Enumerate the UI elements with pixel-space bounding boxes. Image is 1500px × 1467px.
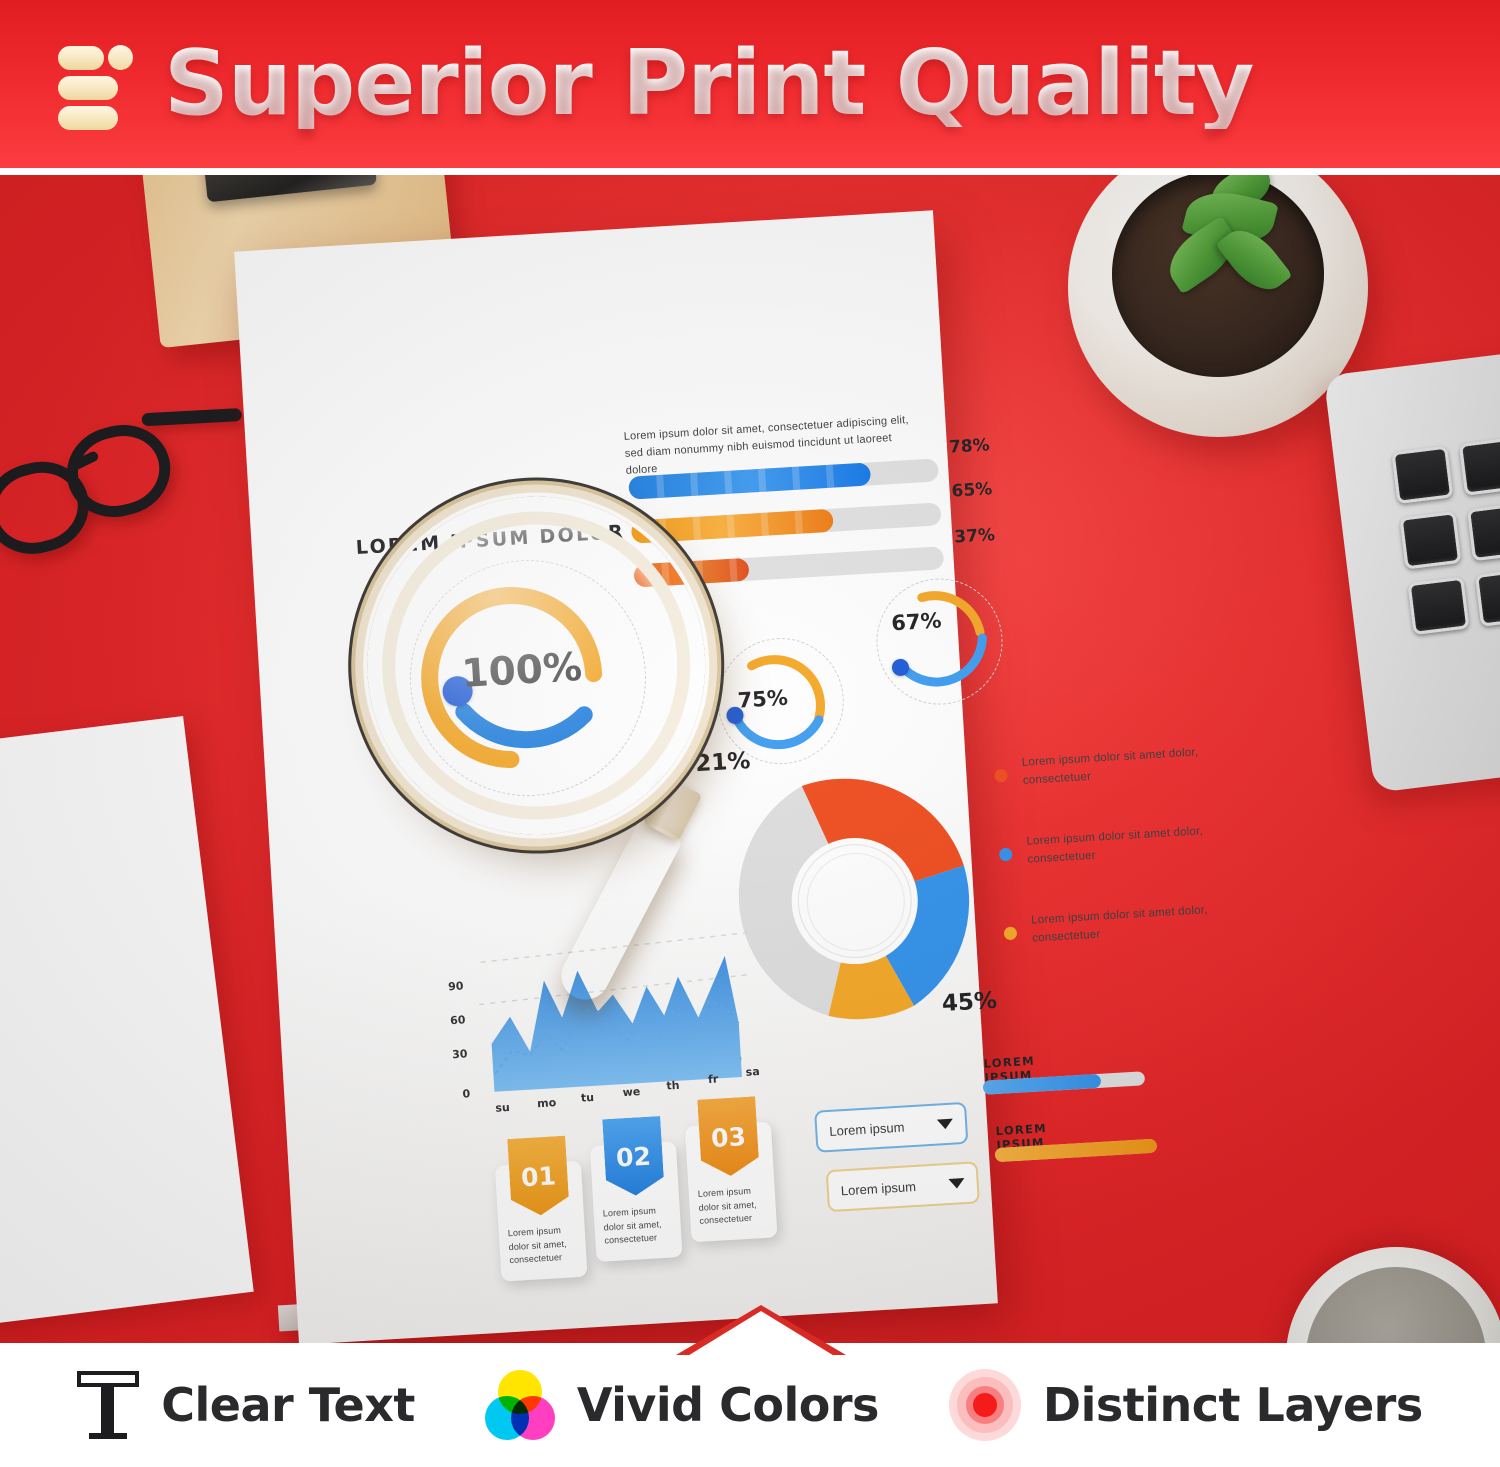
dropdown-2-value: Lorem ipsum [840, 1178, 916, 1197]
feature-clear-text: Clear Text [77, 1369, 415, 1441]
donut-label-21: 21% [695, 748, 752, 777]
clipboard-clip [198, 175, 377, 202]
y-tick-90: 90 [448, 979, 464, 993]
card-text: Lorem ipsum dolor sit amet, consectetuer [602, 1203, 673, 1248]
legend-item-label: Lorem ipsum dolor sit amet dolor, consec… [1021, 743, 1205, 791]
feature-distinct-layers: Distinct Layers [949, 1369, 1423, 1441]
ring-67-value: 67% [891, 608, 943, 635]
dropdown-2[interactable]: Lorem ipsum [826, 1161, 980, 1212]
text-glyph-icon [77, 1369, 139, 1441]
ring-chart-67: 67% [873, 575, 1006, 708]
feature-label: Vivid Colors [577, 1378, 879, 1432]
dropdown-1-value: Lorem ipsum [829, 1119, 905, 1138]
bar-fill-2 [631, 509, 834, 544]
chevron-down-icon [937, 1119, 954, 1130]
desk-photo-scene: LOREM IPSUM DOLOR Lorem ipsum dolor sit … [0, 175, 1500, 1343]
left-paper-sheet [0, 716, 254, 1343]
donut-legend: Lorem ipsum dolor sit amet dolor, consec… [993, 743, 1217, 991]
laptop [1324, 337, 1500, 793]
y-tick-0: 0 [462, 1087, 470, 1100]
card-text: Lorem ipsum dolor sit amet, consectetuer [697, 1184, 768, 1229]
x-tick-tu: tu [581, 1091, 595, 1105]
feature-label: Distinct Layers [1043, 1378, 1423, 1432]
list-bars-icon [56, 40, 134, 128]
header-banner: Superior Print Quality [0, 0, 1500, 168]
x-tick-fr: fr [708, 1072, 719, 1086]
card-number: 02 [602, 1116, 665, 1197]
legend-item: Lorem ipsum dolor sit amet dolor, consec… [993, 743, 1205, 792]
x-tick-we: we [622, 1085, 640, 1099]
ring-chart-75: 75% [714, 634, 847, 767]
chevron-down-icon [948, 1178, 965, 1189]
ring-75-value: 75% [737, 686, 789, 713]
card-number: 03 [697, 1096, 760, 1177]
banner-title: Superior Print Quality [164, 39, 1253, 129]
legend-item: Lorem ipsum dolor sit amet dolor, consec… [998, 822, 1210, 871]
promo-banner-image: Superior Print Quality [0, 0, 1500, 1467]
x-tick-su: su [495, 1101, 510, 1115]
numbered-card[interactable]: 03 Lorem ipsum dolor sit amet, consectet… [685, 1121, 778, 1242]
bar-value-1: 78% [948, 435, 990, 457]
dropdown-1[interactable]: Lorem ipsum [814, 1102, 968, 1153]
card-text: Lorem ipsum dolor sit amet, consectetuer [507, 1223, 578, 1268]
donut-label-45: 45% [941, 988, 998, 1017]
x-tick-mo: mo [537, 1096, 557, 1110]
y-tick-30: 30 [452, 1047, 468, 1061]
coffee-cup [1286, 1247, 1500, 1343]
color-wheel-icon [485, 1370, 555, 1440]
ring-chart-100: 100% [403, 553, 653, 803]
feature-vivid-colors: Vivid Colors [485, 1370, 879, 1440]
card-number: 01 [507, 1136, 570, 1217]
bar-value-2: 65% [951, 479, 993, 501]
x-tick-th: th [666, 1079, 680, 1093]
legend-item: Lorem ipsum dolor sit amet dolor, consec… [1003, 900, 1215, 949]
y-tick-60: 60 [450, 1013, 466, 1027]
legend-item-label: Lorem ipsum dolor sit amet dolor, consec… [1026, 822, 1210, 870]
infographic-title: LOREM IPSUM DOLOR [355, 521, 625, 559]
x-tick-sa: sa [745, 1065, 760, 1079]
feature-bar: Clear Text Vivid Colors Distinct Layers [0, 1343, 1500, 1467]
potted-plant [1068, 175, 1368, 427]
infographic-sheet: LOREM IPSUM DOLOR Lorem ipsum dolor sit … [234, 210, 998, 1343]
bar-fill-3 [633, 558, 749, 588]
numbered-card[interactable]: 01 Lorem ipsum dolor sit amet, consectet… [495, 1161, 588, 1282]
eyeglasses [0, 394, 235, 595]
ring-100-value: 100% [460, 645, 583, 697]
bar-value-3: 37% [954, 525, 996, 547]
numbered-card[interactable]: 02 Lorem ipsum dolor sit amet, consectet… [590, 1141, 683, 1262]
bar-track-2 [631, 502, 942, 543]
feature-label: Clear Text [161, 1378, 415, 1432]
legend-item-label: Lorem ipsum dolor sit amet dolor, consec… [1031, 900, 1215, 948]
concentric-layers-icon [949, 1369, 1021, 1441]
